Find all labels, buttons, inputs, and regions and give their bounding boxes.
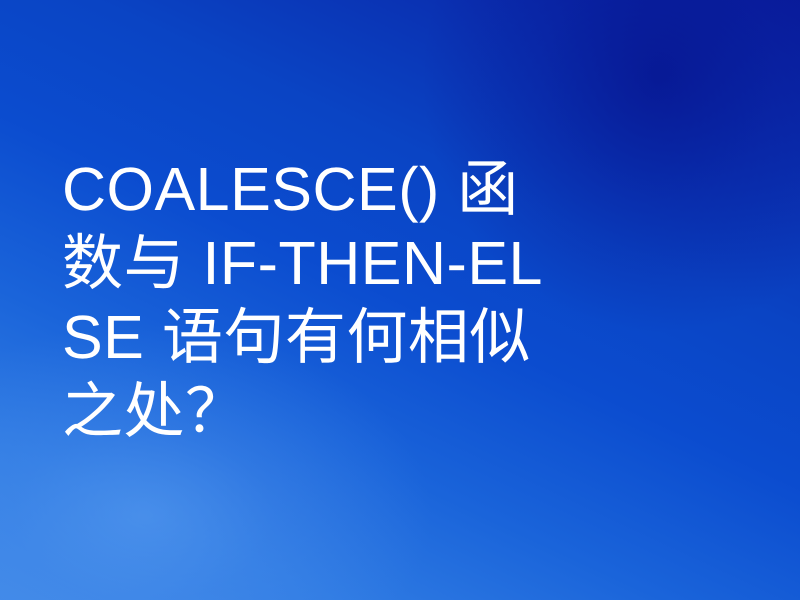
headline-block: COALESCE() 函数与 IF-THEN-ELSE 语句有何相似之处？ [62, 0, 702, 600]
page-title: COALESCE() 函数与 IF-THEN-ELSE 语句有何相似之处？ [62, 152, 567, 448]
title-card: COALESCE() 函数与 IF-THEN-ELSE 语句有何相似之处？ [0, 0, 800, 600]
